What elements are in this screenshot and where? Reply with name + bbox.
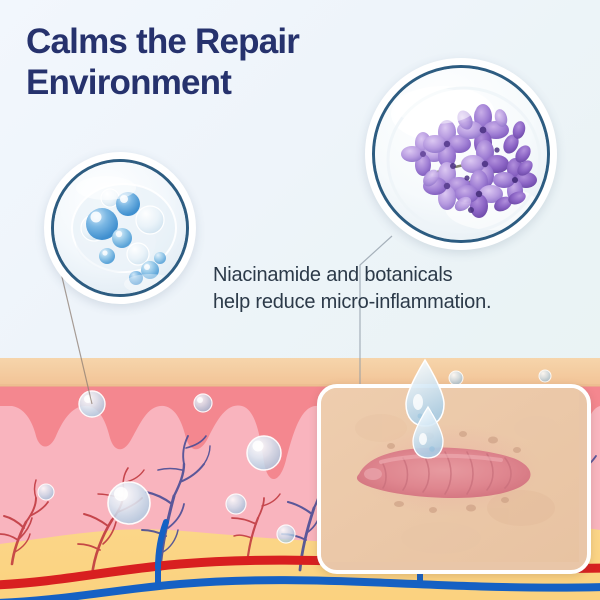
page-title: Calms the Repair Environment: [26, 22, 366, 104]
body-line-2: help reduce micro-inflammation.: [213, 289, 585, 316]
headline-line-1: Calms the Repair: [26, 22, 299, 61]
serum-bubbles-art: [54, 162, 186, 294]
body-line-1: Niacinamide and botanicals: [213, 262, 585, 289]
headline-line-2: Environment: [26, 63, 366, 104]
lilac-botanical-circle[interactable]: [365, 58, 557, 250]
inflamed-skin-photo-svg: [321, 388, 579, 562]
lilac-botanical-circle-ring: [372, 65, 550, 243]
body-copy: Niacinamide and botanicals help reduce m…: [213, 262, 585, 315]
serum-bubbles-circle-ring: [51, 159, 189, 297]
lilac-botanical-art: [375, 68, 547, 240]
serum-bubbles-circle[interactable]: [44, 152, 196, 304]
inflamed-skin-photo[interactable]: [317, 384, 591, 574]
infographic-canvas: Calms the Repair Environment Niacinamide…: [0, 0, 600, 600]
